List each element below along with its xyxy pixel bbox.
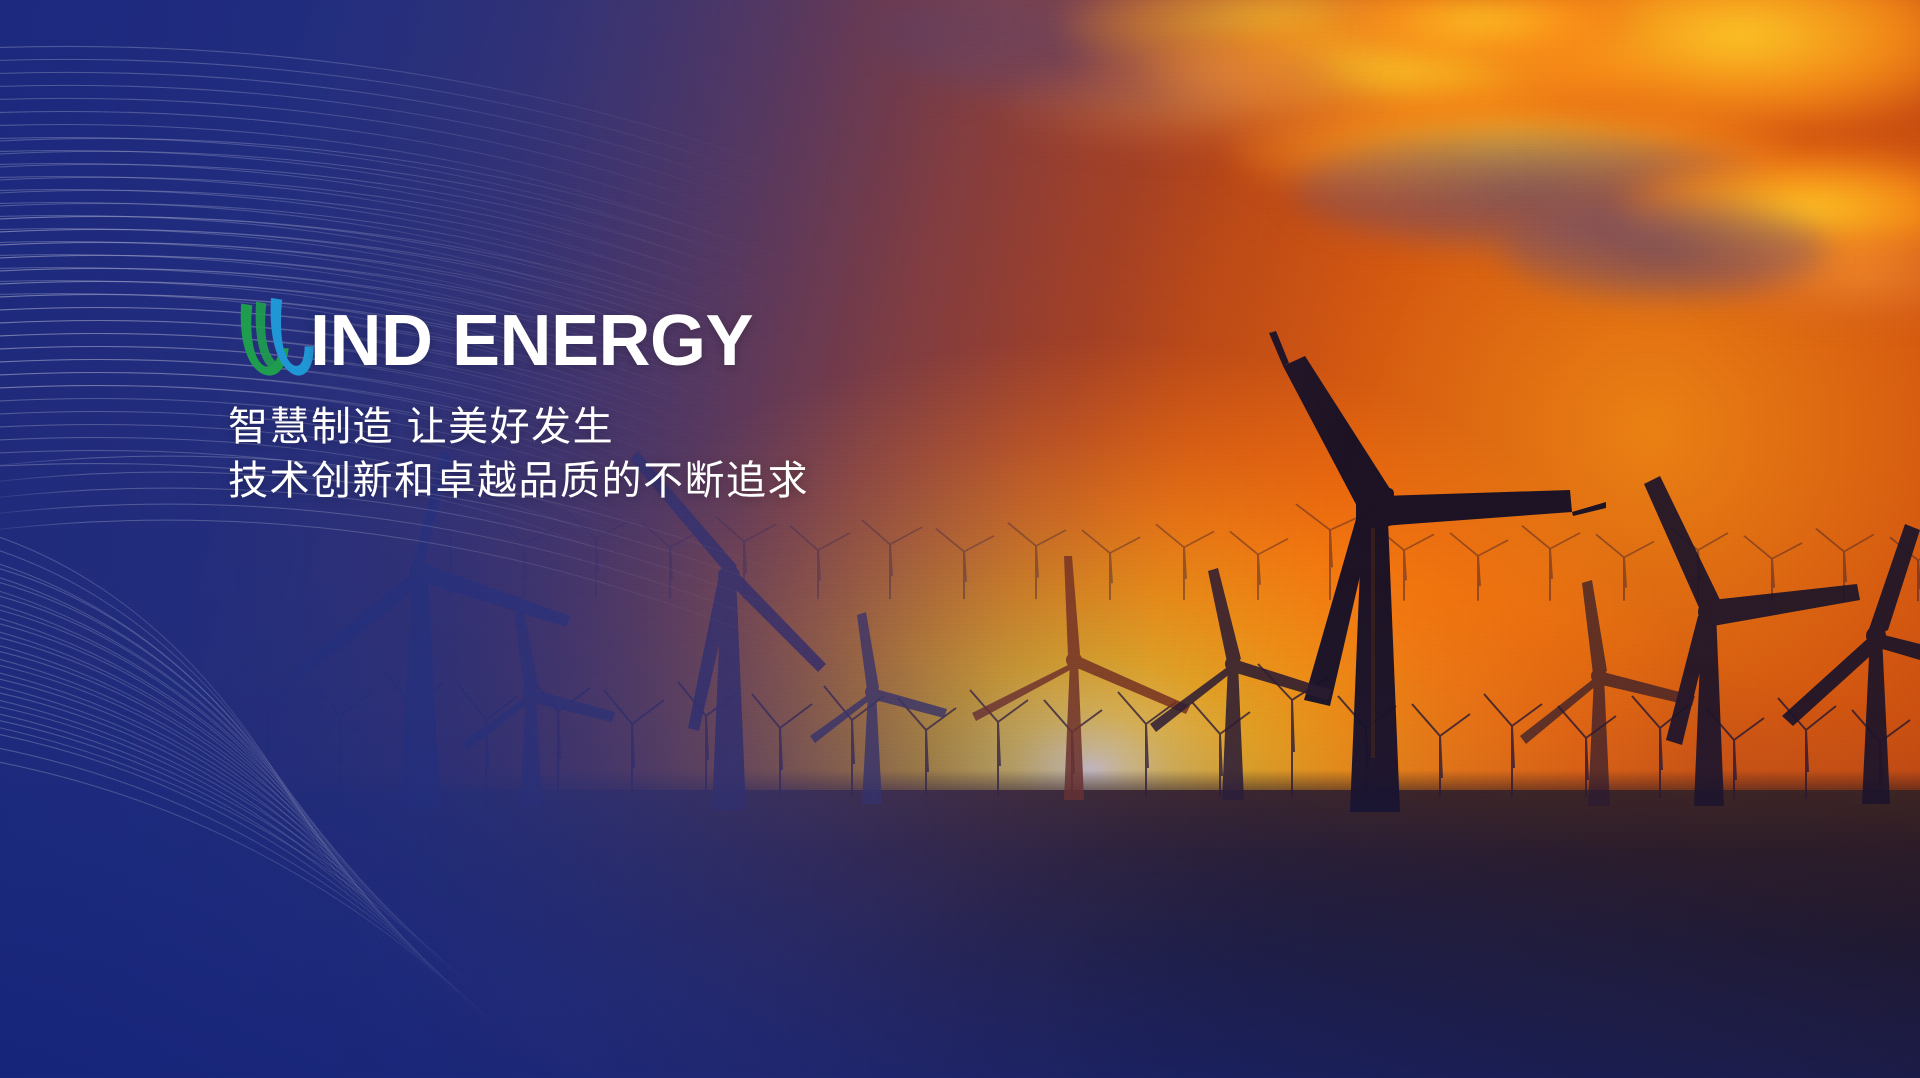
brand-wordmark: IND ENERGY [310, 304, 753, 378]
wave-line-decoration [0, 0, 1920, 1078]
brand-lockup: IND ENERGY [228, 292, 809, 378]
hero-banner: IND ENERGY 智慧制造 让美好发生 技术创新和卓越品质的不断追求 [0, 0, 1920, 1078]
tagline-line-1: 智慧制造 让美好发生 [228, 400, 809, 454]
banner-content: IND ENERGY 智慧制造 让美好发生 技术创新和卓越品质的不断追求 [228, 292, 809, 508]
tagline-block: 智慧制造 让美好发生 技术创新和卓越品质的不断追求 [228, 400, 809, 508]
wind-turbine-w-monogram-icon [228, 296, 314, 380]
tagline-line-2: 技术创新和卓越品质的不断追求 [228, 454, 809, 508]
